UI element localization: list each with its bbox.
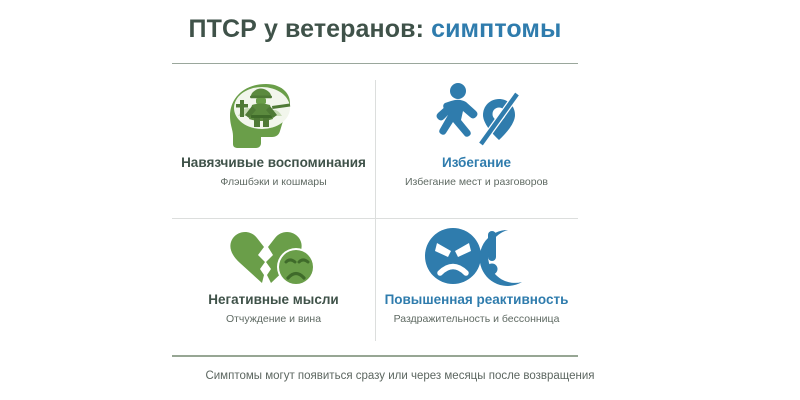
title-divider [172,63,578,64]
quadrant-title: Навязчивые воспоминания [181,155,366,171]
quadrant-subtitle: Флэшбэки и кошмары [220,175,326,189]
head-with-soldier-thought-icon [222,80,326,152]
quadrant-title: Повышенная реактивность [385,292,569,308]
footer-divider [172,355,578,357]
symptom-grid: Навязчивые воспоминания Флэшбэки и кошма… [172,78,578,343]
angry-face-exclamation-moon-icon [422,223,532,289]
quadrant-negative-thoughts: Негативные мысли Отчуждение и вина [172,219,375,351]
quadrant-avoidance: Избегание Избегание мест и разговоров [375,78,578,210]
ptsd-symptoms-infographic: ПТСР у ветеранов: симптомы [0,0,800,400]
quadrant-title: Избегание [442,155,511,171]
quadrant-title: Негативные мысли [208,292,338,308]
page-title: ПТСР у ветеранов: симптомы [172,14,578,44]
quadrant-subtitle: Раздражительность и бессонница [394,312,560,326]
quadrant-subtitle: Отчуждение и вина [226,312,321,326]
quadrant-hyperarousal: Повышенная реактивность Раздражительност… [375,219,578,351]
page-title-main: ПТСР у ветеранов: [189,15,424,43]
quadrant-intrusive-memories: Навязчивые воспоминания Флэшбэки и кошма… [172,78,375,210]
broken-heart-sad-face-icon [222,223,326,289]
footer-note: Симптомы могут появиться сразу или через… [150,368,650,384]
walking-person-no-place-icon [425,80,529,152]
page-title-accent: симптомы [431,15,561,43]
quadrant-subtitle: Избегание мест и разговоров [405,175,548,189]
